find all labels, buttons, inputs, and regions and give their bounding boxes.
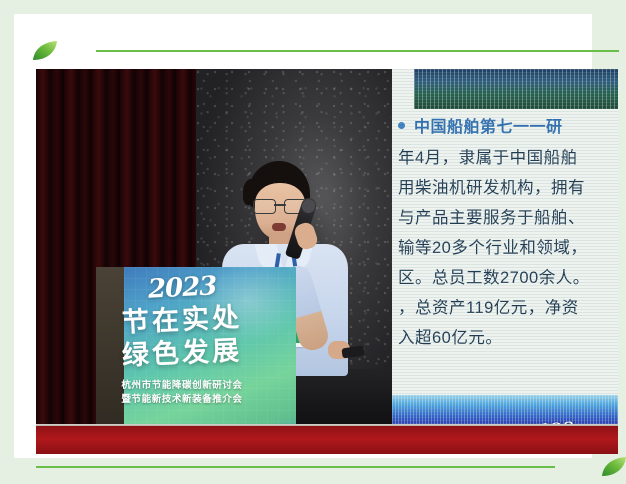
page-root: 中国船舶第七一一研 年4月，隶属于中国船舶 用柴油机研发机构，拥有 与产品主要服… <box>0 0 626 484</box>
slide-line: 入超60亿元。 <box>398 323 618 353</box>
stage-floor <box>36 426 618 454</box>
slide-line: 输等20多个行业和领域， <box>398 233 618 263</box>
slide-line-heading: 中国船舶第七一一研 <box>398 113 618 143</box>
leaf-icon <box>32 41 58 61</box>
content-card: 中国船舶第七一一研 年4月，隶属于中国船舶 用柴油机研发机构，拥有 与产品主要服… <box>14 14 592 458</box>
projection-screen: 中国船舶第七一一研 年4月，隶属于中国船舶 用柴油机研发机构，拥有 与产品主要服… <box>392 69 618 437</box>
slide-line: 与产品主要服务于船舶、 <box>398 203 618 233</box>
slide-line: 区。总员工数2700余人。 <box>398 263 618 293</box>
slide-line-text: 中国船舶第七一一研 <box>414 119 563 136</box>
slide-line: 年4月，隶属于中国船舶 <box>398 143 618 173</box>
podium-banner-subtitle-line: 暨节能新技术新装备推介会 <box>121 393 242 407</box>
speaker-mouth <box>272 223 286 231</box>
slide-line: 用柴油机研发机构，拥有 <box>398 173 618 203</box>
slide-text-block: 中国船舶第七一一研 年4月，隶属于中国船舶 用柴油机研发机构，拥有 与产品主要服… <box>392 113 618 353</box>
podium-banner-subtitle: 杭州市节能降碳创新研讨会 暨节能新技术新装备推介会 <box>121 379 242 408</box>
bullet-icon <box>398 122 405 129</box>
divider-top <box>96 50 619 52</box>
event-photo: 中国船舶第七一一研 年4月，隶属于中国船舶 用柴油机研发机构，拥有 与产品主要服… <box>36 69 618 454</box>
leaf-icon <box>601 457 626 477</box>
podium-banner-year: 2023 <box>147 273 217 303</box>
podium-banner-subtitle-line: 杭州市节能降碳创新研讨会 <box>121 379 242 393</box>
podium-banner-headline-1: 节在实处 <box>121 302 242 338</box>
slide-line: ，总资产119亿元，净资 <box>398 293 618 323</box>
slide-photo-strip <box>414 69 618 109</box>
divider-bottom <box>36 466 555 468</box>
podium-banner-headline-2: 绿色发展 <box>121 335 242 371</box>
